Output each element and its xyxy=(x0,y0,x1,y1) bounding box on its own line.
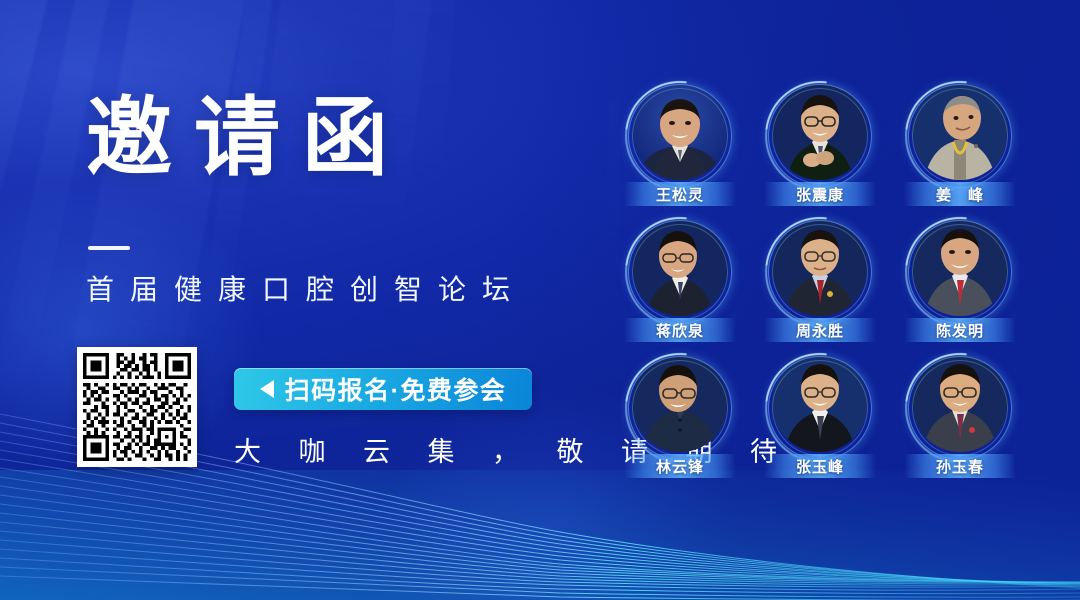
speaker-card[interactable]: 姜 峰 xyxy=(892,82,1028,218)
speaker-name: 陈发明 xyxy=(936,320,984,341)
speaker-name: 周永胜 xyxy=(796,320,844,341)
avatar-ring xyxy=(628,356,732,460)
speaker-name: 姜 峰 xyxy=(936,184,984,205)
speaker-nameplate: 张震康 xyxy=(764,182,876,206)
triangle-left-icon xyxy=(260,380,274,398)
speaker-name: 蒋欣泉 xyxy=(656,320,704,341)
speaker-card[interactable]: 张震康 xyxy=(752,82,888,218)
avatar-ring xyxy=(768,84,872,188)
speaker-nameplate: 周永胜 xyxy=(764,318,876,342)
speaker-name: 王松灵 xyxy=(656,184,704,205)
speakers-grid: 王松灵 张震康 xyxy=(612,82,1032,502)
event-subtitle: 首届健康口腔创智论坛 xyxy=(86,268,526,308)
avatar-ring xyxy=(908,356,1012,460)
speaker-card[interactable]: 王松灵 xyxy=(612,82,748,218)
speaker-card[interactable]: 蒋欣泉 xyxy=(612,218,748,354)
speaker-nameplate: 孙玉春 xyxy=(904,454,1016,478)
scan-register-button[interactable]: 扫码报名·免费参会 xyxy=(234,368,532,410)
speaker-nameplate: 张玉峰 xyxy=(764,454,876,478)
speaker-name: 张玉峰 xyxy=(796,456,844,477)
page-title: 邀请函 xyxy=(86,95,410,181)
speaker-name: 林云锋 xyxy=(656,456,704,477)
invitation-poster: 邀请函 首届健康口腔创智论坛 xyxy=(0,0,1080,600)
speaker-nameplate: 姜 峰 xyxy=(904,182,1016,206)
speaker-card[interactable]: 林云锋 xyxy=(612,354,748,490)
avatar-ring xyxy=(628,220,732,324)
speaker-card[interactable]: 孙玉春 xyxy=(892,354,1028,490)
speaker-card[interactable]: 张玉峰 xyxy=(752,354,888,490)
avatar-ring xyxy=(768,356,872,460)
speaker-card[interactable]: 陈发明 xyxy=(892,218,1028,354)
avatar-ring xyxy=(628,84,732,188)
speaker-nameplate: 林云锋 xyxy=(624,454,736,478)
qr-code[interactable] xyxy=(77,347,197,467)
speaker-nameplate: 陈发明 xyxy=(904,318,1016,342)
scan-register-label: 扫码报名·免费参会 xyxy=(285,371,507,407)
avatar-ring xyxy=(908,84,1012,188)
speaker-nameplate: 王松灵 xyxy=(624,182,736,206)
speaker-card[interactable]: 周永胜 xyxy=(752,218,888,354)
speaker-nameplate: 蒋欣泉 xyxy=(624,318,736,342)
speaker-name: 张震康 xyxy=(796,184,844,205)
title-divider xyxy=(88,246,130,250)
avatar-ring xyxy=(768,220,872,324)
speaker-name: 孙玉春 xyxy=(936,456,984,477)
left-content-panel: 邀请函 首届健康口腔创智论坛 xyxy=(0,0,600,600)
avatar-ring xyxy=(908,220,1012,324)
